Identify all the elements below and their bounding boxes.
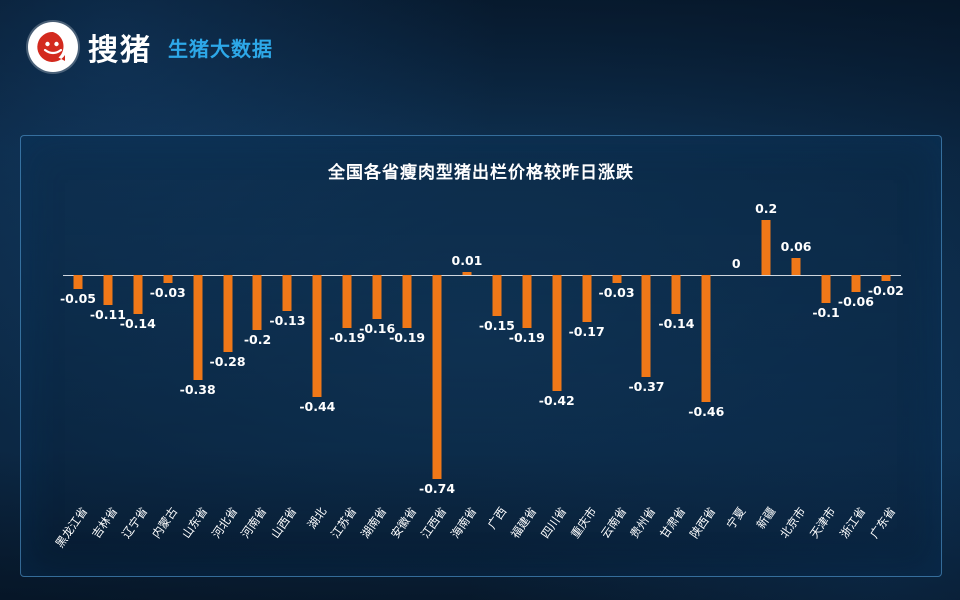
- bar-column: -0.15: [482, 206, 512, 496]
- x-axis-tick-label: 河南省: [238, 504, 271, 541]
- bar-column: -0.42: [542, 206, 572, 496]
- bar-value-label: -0.19: [389, 330, 425, 345]
- x-axis-tick-label: 天津市: [806, 504, 839, 541]
- bar: [193, 275, 202, 380]
- x-label-column: 宁夏: [721, 504, 751, 564]
- bar-value-label: -0.05: [60, 291, 96, 306]
- x-axis-tick-label: 广西: [484, 504, 510, 532]
- bar-column: -0.03: [602, 206, 632, 496]
- bar-value-label: -0.03: [150, 285, 186, 300]
- x-label-column: 重庆市: [572, 504, 602, 564]
- x-axis-tick-label: 吉林省: [88, 504, 121, 541]
- bar: [612, 275, 621, 283]
- bar-column: -0.46: [691, 206, 721, 496]
- bar: [253, 275, 262, 330]
- bar-column: -0.17: [572, 206, 602, 496]
- x-label-column: 贵州省: [632, 504, 662, 564]
- bar-value-label: -0.2: [244, 332, 271, 347]
- bar: [373, 275, 382, 319]
- x-label-column: 山西省: [272, 504, 302, 564]
- x-axis-tick-label: 云南省: [597, 504, 630, 541]
- bar: [283, 275, 292, 311]
- bar: [433, 275, 442, 479]
- x-axis-tick-label: 重庆市: [567, 504, 600, 541]
- x-axis-tick-label: 安徽省: [387, 504, 420, 541]
- x-axis-tick-label: 贵州省: [627, 504, 660, 541]
- x-axis-tick-label: 山西省: [268, 504, 301, 541]
- x-label-column: 海南省: [452, 504, 482, 564]
- bar-value-label: -0.13: [269, 313, 305, 328]
- bar-value-label: -0.14: [120, 316, 156, 331]
- x-label-column: 辽宁省: [123, 504, 153, 564]
- bar: [822, 275, 831, 303]
- bar-column: -0.19: [512, 206, 542, 496]
- x-label-column: 福建省: [512, 504, 542, 564]
- x-label-column: 广东省: [871, 504, 901, 564]
- bar-column: 0.06: [781, 206, 811, 496]
- bar: [851, 275, 860, 292]
- bar: [762, 220, 771, 275]
- x-label-column: 陕西省: [691, 504, 721, 564]
- bar-column: -0.2: [243, 206, 273, 496]
- bar-value-label: -0.74: [419, 481, 455, 496]
- chart-title: 全国各省瘦肉型猪出栏价格较昨日涨跌: [21, 158, 941, 183]
- bar-value-label: -0.17: [569, 324, 605, 339]
- bar-column: -0.19: [392, 206, 422, 496]
- brand-tagline: 生猪大数据: [168, 33, 273, 62]
- bar-column: 0.01: [452, 206, 482, 496]
- bar-value-label: -0.42: [539, 393, 575, 408]
- bar: [492, 275, 501, 316]
- x-axis-tick-label: 山东省: [178, 504, 211, 541]
- plot-area: -0.05-0.11-0.14-0.03-0.38-0.28-0.2-0.13-…: [63, 206, 901, 496]
- x-label-column: 江西省: [422, 504, 452, 564]
- x-label-column: 江苏省: [332, 504, 362, 564]
- bar-column: -0.14: [661, 206, 691, 496]
- x-label-column: 安徽省: [392, 504, 422, 564]
- brand-name: 搜猪: [88, 25, 152, 69]
- x-label-column: 云南省: [602, 504, 632, 564]
- x-axis-tick-label: 广东省: [866, 504, 899, 541]
- bar: [133, 275, 142, 314]
- bar-value-label: 0: [732, 256, 741, 271]
- bar-column: -0.02: [871, 206, 901, 496]
- bar-column: -0.38: [183, 206, 213, 496]
- bar: [522, 275, 531, 327]
- x-label-column: 山东省: [183, 504, 213, 564]
- x-axis-tick-label: 黑龙江省: [52, 504, 91, 551]
- bar-value-label: -0.14: [658, 316, 694, 331]
- bar: [313, 275, 322, 397]
- bar-value-label: 0.06: [781, 239, 812, 254]
- bar-column: -0.74: [422, 206, 452, 496]
- x-axis-tick-label: 宁夏: [723, 504, 749, 532]
- bar-column: -0.06: [841, 206, 871, 496]
- bar: [103, 275, 112, 305]
- x-label-column: 湖南省: [362, 504, 392, 564]
- x-axis-tick-label: 四川省: [537, 504, 570, 541]
- x-axis-tick-label: 辽宁省: [118, 504, 151, 541]
- bar-value-label: -0.19: [509, 330, 545, 345]
- x-axis-labels: 黑龙江省吉林省辽宁省内蒙古山东省河北省河南省山西省湖北江苏省湖南省安徽省江西省海…: [63, 504, 901, 564]
- bar: [163, 275, 172, 283]
- bar-series: -0.05-0.11-0.14-0.03-0.38-0.28-0.2-0.13-…: [63, 206, 901, 496]
- bar: [552, 275, 561, 391]
- bar-column: -0.28: [213, 206, 243, 496]
- bar-column: -0.03: [153, 206, 183, 496]
- pig-circle-logo-icon: [28, 22, 78, 72]
- bar-column: -0.1: [811, 206, 841, 496]
- bar-value-label: -0.02: [868, 283, 904, 298]
- bar-column: 0.2: [751, 206, 781, 496]
- x-axis-tick-label: 江苏省: [327, 504, 360, 541]
- bar-column: -0.11: [93, 206, 123, 496]
- bar-value-label: -0.44: [299, 399, 335, 414]
- bar-value-label: -0.28: [210, 354, 246, 369]
- bar-column: 0: [721, 206, 751, 496]
- bar: [642, 275, 651, 377]
- bar: [403, 275, 412, 327]
- x-label-column: 甘肃省: [661, 504, 691, 564]
- bar-value-label: 0.01: [452, 253, 483, 268]
- bar: [792, 258, 801, 275]
- x-label-column: 北京市: [781, 504, 811, 564]
- bar-column: -0.44: [302, 206, 332, 496]
- x-label-column: 新疆: [751, 504, 781, 564]
- bar: [702, 275, 711, 402]
- x-label-column: 天津市: [811, 504, 841, 564]
- x-label-column: 四川省: [542, 504, 572, 564]
- x-axis-tick-label: 陕西省: [687, 504, 720, 541]
- bar: [582, 275, 591, 322]
- x-label-column: 内蒙古: [153, 504, 183, 564]
- chart-panel: 全国各省瘦肉型猪出栏价格较昨日涨跌 -0.05-0.11-0.14-0.03-0…: [20, 135, 942, 577]
- bar-value-label: 0.2: [755, 201, 777, 216]
- bar-value-label: -0.46: [688, 404, 724, 419]
- bar-column: -0.19: [332, 206, 362, 496]
- x-axis-tick-label: 湖南省: [357, 504, 390, 541]
- x-label-column: 黑龙江省: [63, 504, 93, 564]
- bar-value-label: -0.38: [180, 382, 216, 397]
- bar-column: -0.05: [63, 206, 93, 496]
- bar: [343, 275, 352, 327]
- bar: [881, 275, 890, 281]
- x-axis-tick-label: 福建省: [507, 504, 540, 541]
- x-axis-tick-label: 内蒙古: [148, 504, 181, 541]
- x-axis-tick-label: 甘肃省: [657, 504, 690, 541]
- x-label-column: 吉林省: [93, 504, 123, 564]
- bar-value-label: -0.37: [628, 379, 664, 394]
- x-axis-tick-label: 江西省: [417, 504, 450, 541]
- bar-column: -0.13: [272, 206, 302, 496]
- x-axis-tick-label: 新疆: [753, 504, 779, 532]
- x-axis-tick-label: 湖北: [304, 504, 330, 532]
- x-label-column: 河北省: [213, 504, 243, 564]
- bar: [223, 275, 232, 352]
- bar-value-label: -0.1: [812, 305, 839, 320]
- bar-column: -0.37: [632, 206, 662, 496]
- brand-header: 搜猪 生猪大数据: [28, 22, 273, 72]
- x-axis-tick-label: 河北省: [208, 504, 241, 541]
- x-axis-tick-label: 海南省: [447, 504, 480, 541]
- x-axis-tick-label: 北京市: [776, 504, 809, 541]
- x-axis-tick-label: 浙江省: [836, 504, 869, 541]
- bar-column: -0.14: [123, 206, 153, 496]
- bar: [462, 272, 471, 275]
- x-label-column: 浙江省: [841, 504, 871, 564]
- x-label-column: 广西: [482, 504, 512, 564]
- x-label-column: 湖北: [302, 504, 332, 564]
- bar: [73, 275, 82, 289]
- bar-value-label: -0.03: [599, 285, 635, 300]
- bar: [672, 275, 681, 314]
- x-label-column: 河南省: [243, 504, 273, 564]
- bar-column: -0.16: [362, 206, 392, 496]
